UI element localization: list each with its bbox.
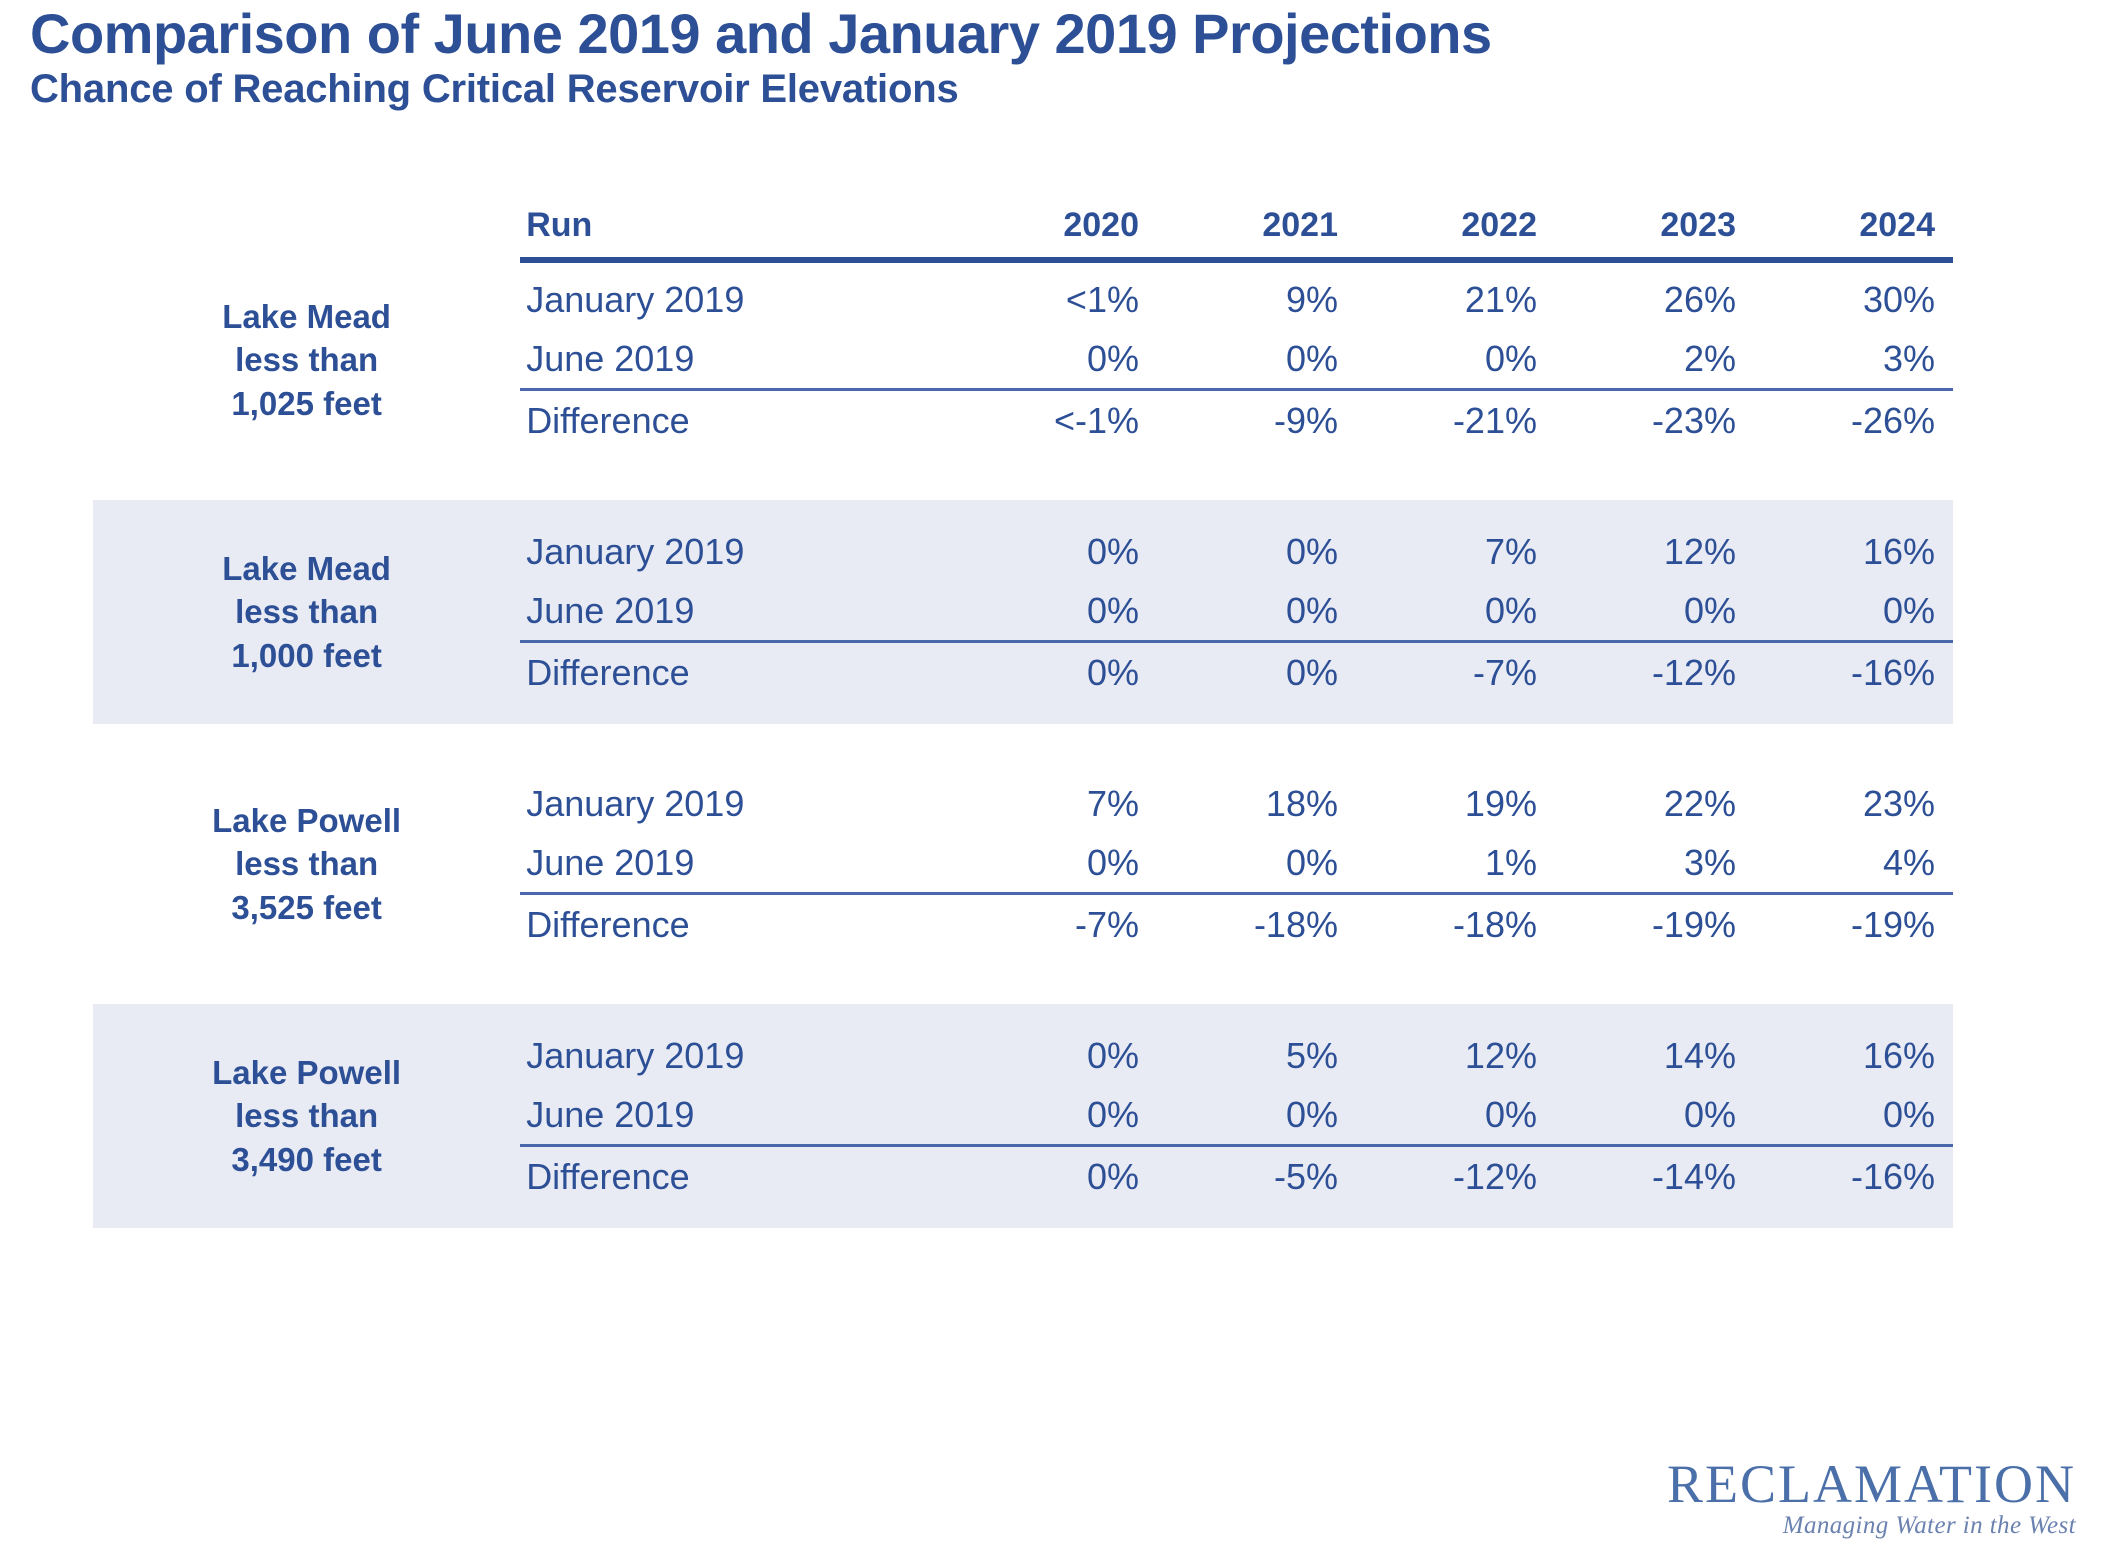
spacer-cell (93, 724, 1953, 774)
cell-value: 0% (1754, 581, 1953, 642)
run-name: Difference (520, 894, 958, 955)
row-group-label-line-3: 3,525 feet (99, 886, 514, 930)
run-name: Difference (520, 642, 958, 703)
row-group-label-line-2: less than (99, 842, 514, 886)
cell-value: -7% (1356, 642, 1555, 703)
run-name: January 2019 (520, 774, 958, 833)
column-header-group (93, 206, 520, 260)
row-group-label-line-3: 1,025 feet (99, 382, 514, 426)
header-rule-spacer (93, 260, 520, 270)
spacer-cell (93, 1206, 1953, 1228)
cell-value: 0% (1555, 1085, 1754, 1146)
column-header-2021: 2021 (1157, 206, 1356, 260)
cell-value: -18% (1157, 894, 1356, 955)
table-block-lake-mead-1025: Lake Mead less than 1,025 feet January 2… (93, 270, 1953, 450)
cell-value: 0% (958, 642, 1157, 703)
cell-value: 12% (1555, 522, 1754, 581)
spacer-cell (93, 1004, 1953, 1026)
cell-value: 16% (1754, 522, 1953, 581)
run-name: January 2019 (520, 1026, 958, 1085)
spacer-row (93, 724, 1953, 774)
cell-value: -16% (1754, 1146, 1953, 1207)
cell-value: 0% (958, 1146, 1157, 1207)
cell-value: -18% (1356, 894, 1555, 955)
cell-value: 4% (1754, 833, 1953, 894)
shade-pad-row (93, 702, 1953, 724)
run-name: Difference (520, 1146, 958, 1207)
cell-value: 9% (1157, 270, 1356, 329)
row-group-label-line-3: 1,000 feet (99, 634, 514, 678)
cell-value: 0% (1754, 1085, 1953, 1146)
cell-value: -14% (1555, 1146, 1754, 1207)
spacer-cell (93, 702, 1953, 724)
cell-value: 3% (1754, 329, 1953, 390)
table-row: Lake Powell less than 3,525 feet January… (93, 774, 1953, 833)
row-group-label-line-2: less than (99, 1094, 514, 1138)
cell-value: -7% (958, 894, 1157, 955)
cell-value: 1% (1356, 833, 1555, 894)
cell-value: <-1% (958, 390, 1157, 451)
cell-value: -26% (1754, 390, 1953, 451)
cell-value: 21% (1356, 270, 1555, 329)
table-row: Lake Powell less than 3,490 feet January… (93, 1026, 1953, 1085)
projections-table: Run 2020 2021 2022 2023 2024 Lake Mead l… (93, 206, 1953, 1228)
page-subtitle: Chance of Reaching Critical Reservoir El… (30, 67, 2030, 112)
row-group-label-line-2: less than (99, 590, 514, 634)
cell-value: -21% (1356, 390, 1555, 451)
cell-value: 0% (958, 581, 1157, 642)
cell-value: 12% (1356, 1026, 1555, 1085)
cell-value: 22% (1555, 774, 1754, 833)
page-title: Comparison of June 2019 and January 2019… (30, 4, 2030, 63)
cell-value: 16% (1754, 1026, 1953, 1085)
projections-table-wrapper: Run 2020 2021 2022 2023 2024 Lake Mead l… (93, 206, 1963, 1228)
reclamation-logo: RECLAMATION Managing Water in the West (1667, 1457, 2076, 1538)
run-name: January 2019 (520, 522, 958, 581)
row-group-label-lake-powell-3525: Lake Powell less than 3,525 feet (93, 774, 520, 954)
shade-pad-row (93, 1004, 1953, 1026)
run-name: June 2019 (520, 1085, 958, 1146)
header-rule (93, 260, 1953, 270)
column-header-2023: 2023 (1555, 206, 1754, 260)
table-block-lake-powell-3525: Lake Powell less than 3,525 feet January… (93, 774, 1953, 954)
table-header-row: Run 2020 2021 2022 2023 2024 (93, 206, 1953, 260)
spacer-cell (93, 954, 1953, 1004)
cell-value: 0% (1555, 581, 1754, 642)
spacer-row (93, 954, 1953, 1004)
row-group-label-lake-mead-1025: Lake Mead less than 1,025 feet (93, 270, 520, 450)
cell-value: <1% (958, 270, 1157, 329)
cell-value: -19% (1555, 894, 1754, 955)
table-row: Lake Mead less than 1,000 feet January 2… (93, 522, 1953, 581)
row-group-label-line-1: Lake Powell (99, 799, 514, 843)
cell-value: -12% (1356, 1146, 1555, 1207)
cell-value: -9% (1157, 390, 1356, 451)
cell-value: -16% (1754, 642, 1953, 703)
column-header-2020: 2020 (958, 206, 1157, 260)
run-name: June 2019 (520, 833, 958, 894)
spacer-cell (93, 450, 1953, 500)
cell-value: 0% (958, 1026, 1157, 1085)
run-name: January 2019 (520, 270, 958, 329)
row-group-label-lake-mead-1000: Lake Mead less than 1,000 feet (93, 522, 520, 702)
block-gap-3 (93, 954, 1953, 1004)
cell-value: 0% (1157, 329, 1356, 390)
cell-value: 18% (1157, 774, 1356, 833)
run-name: June 2019 (520, 329, 958, 390)
cell-value: -19% (1754, 894, 1953, 955)
cell-value: 0% (1356, 581, 1555, 642)
cell-value: 23% (1754, 774, 1953, 833)
header-rule-line (520, 260, 1953, 270)
cell-value: 0% (958, 833, 1157, 894)
cell-value: -5% (1157, 1146, 1356, 1207)
shade-pad-row (93, 500, 1953, 522)
cell-value: 7% (1356, 522, 1555, 581)
table-header: Run 2020 2021 2022 2023 2024 (93, 206, 1953, 270)
cell-value: 5% (1157, 1026, 1356, 1085)
cell-value: 0% (958, 329, 1157, 390)
shade-pad-row (93, 1206, 1953, 1228)
cell-value: 0% (1157, 581, 1356, 642)
slide-title-block: Comparison of June 2019 and January 2019… (30, 4, 2030, 112)
spacer-row (93, 450, 1953, 500)
cell-value: 14% (1555, 1026, 1754, 1085)
run-name: Difference (520, 390, 958, 451)
reclamation-wordmark: RECLAMATION (1667, 1457, 2076, 1511)
row-group-label-line-1: Lake Mead (99, 547, 514, 591)
cell-value: 19% (1356, 774, 1555, 833)
cell-value: -23% (1555, 390, 1754, 451)
cell-value: 3% (1555, 833, 1754, 894)
block-gap-2 (93, 724, 1953, 774)
table-row: Lake Mead less than 1,025 feet January 2… (93, 270, 1953, 329)
column-header-2022: 2022 (1356, 206, 1555, 260)
cell-value: 2% (1555, 329, 1754, 390)
cell-value: 7% (958, 774, 1157, 833)
table-block-lake-powell-3490: Lake Powell less than 3,490 feet January… (93, 1004, 1953, 1228)
cell-value: 30% (1754, 270, 1953, 329)
run-name: June 2019 (520, 581, 958, 642)
cell-value: 0% (1157, 522, 1356, 581)
cell-value: 0% (1356, 329, 1555, 390)
cell-value: 0% (958, 1085, 1157, 1146)
cell-value: 0% (1157, 833, 1356, 894)
cell-value: 0% (1157, 642, 1356, 703)
row-group-label-lake-powell-3490: Lake Powell less than 3,490 feet (93, 1026, 520, 1206)
cell-value: 0% (958, 522, 1157, 581)
cell-value: 26% (1555, 270, 1754, 329)
column-header-run: Run (520, 206, 958, 260)
block-gap-1 (93, 450, 1953, 500)
column-header-2024: 2024 (1754, 206, 1953, 260)
row-group-label-line-1: Lake Powell (99, 1051, 514, 1095)
row-group-label-line-1: Lake Mead (99, 295, 514, 339)
row-group-label-line-2: less than (99, 338, 514, 382)
cell-value: -12% (1555, 642, 1754, 703)
row-group-label-line-3: 3,490 feet (99, 1138, 514, 1182)
cell-value: 0% (1157, 1085, 1356, 1146)
spacer-cell (93, 500, 1953, 522)
reclamation-tagline: Managing Water in the West (1667, 1513, 2076, 1538)
table-block-lake-mead-1000: Lake Mead less than 1,000 feet January 2… (93, 500, 1953, 724)
cell-value: 0% (1356, 1085, 1555, 1146)
